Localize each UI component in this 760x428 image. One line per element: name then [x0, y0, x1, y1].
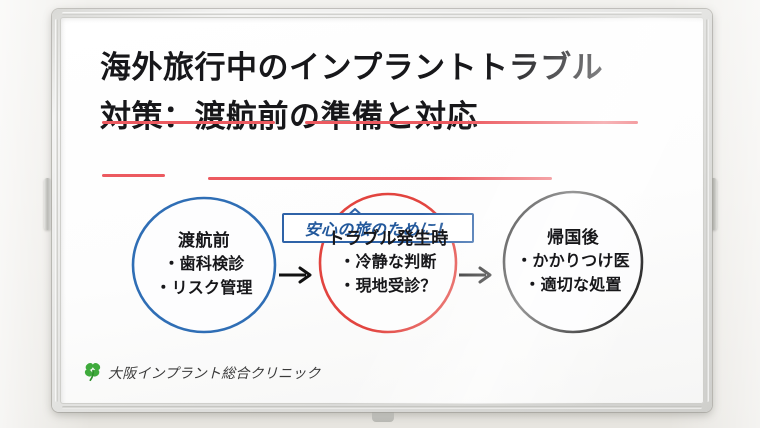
frame-rail-right [706, 19, 709, 402]
frame-rail-bottom [62, 406, 702, 409]
clinic-name: 大阪インプラント総合クリニック [108, 363, 321, 383]
whiteboard: 海外旅行中のインプラントトラブル 対策：渡航前の準備と対応 渡航前 ・歯科検診 … [52, 9, 712, 412]
flow-node-item: ・リスク管理 [155, 276, 252, 300]
frame-rail-top [62, 12, 702, 15]
frame-rail-left [55, 19, 58, 402]
title-underline-1b [305, 121, 638, 124]
whiteboard-bracket-left [44, 178, 51, 230]
whiteboard-surface: 海外旅行中のインプラントトラブル 対策：渡航前の準備と対応 渡航前 ・歯科検診 … [60, 17, 704, 404]
flow-arrow-2-icon [458, 265, 496, 289]
flow-node-heading: 帰国後 [516, 227, 630, 249]
flow-arrow-1-icon [278, 265, 316, 289]
title-underline-1a [102, 121, 275, 124]
flow-node-heading: 渡航前 [155, 230, 252, 252]
flow-node-heading: トラブル発生時 [327, 228, 448, 250]
clinic-logo: 大阪インプラント総合クリニック [82, 360, 321, 386]
flow-node-after-return: 帰国後 ・かかりつけ医 ・適切な処置 [498, 189, 648, 335]
flow-node-item: ・適切な処置 [516, 273, 630, 297]
flow-node-item: ・かかりつけ医 [516, 249, 630, 273]
title-line-2: 対策：渡航前の準備と対応 [100, 98, 680, 136]
flow-node-before-departure: 渡航前 ・歯科検診 ・リスク管理 [128, 195, 280, 335]
flow-node-item: ・現地受診？ [327, 274, 448, 298]
flow-node-item: ・冷静な判断 [327, 250, 448, 274]
four-leaf-clover-icon [82, 360, 104, 386]
flow-node-item: ・歯科検診 [155, 252, 252, 276]
title-line-1: 海外旅行中のインプラントトラブル [100, 49, 680, 87]
